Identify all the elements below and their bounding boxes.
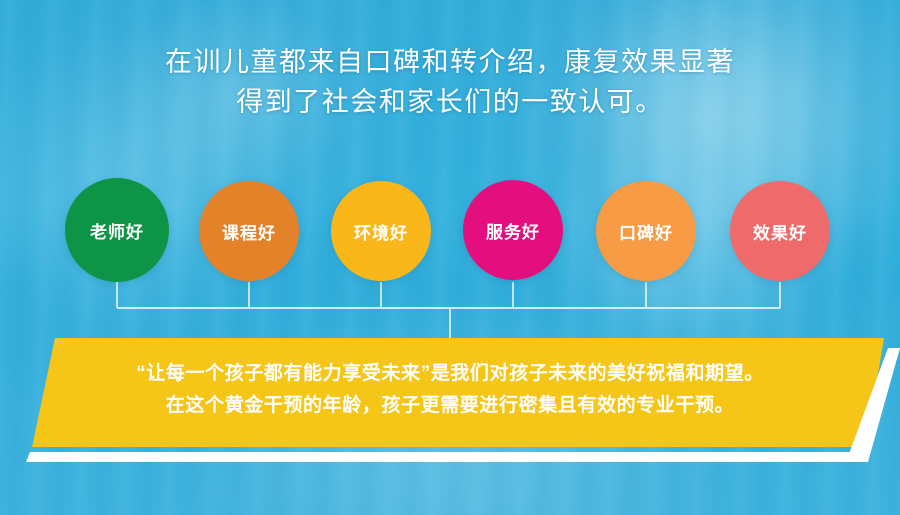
badge-label: 老师好 (90, 218, 144, 243)
badge-circle[interactable]: 环境好 (331, 181, 431, 281)
badge-label: 服务好 (486, 218, 540, 243)
badge-circle[interactable]: 口碑好 (596, 181, 696, 281)
badge-circle[interactable]: 服务好 (463, 180, 563, 280)
badge-circle[interactable]: 课程好 (199, 181, 299, 281)
banner-text: “让每一个孩子都有能力享受未来”是我们对孩子未来的美好祝福和期望。 在这个黄金干… (0, 358, 900, 422)
badge-label: 效果好 (753, 219, 807, 244)
badge-label: 口碑好 (619, 219, 673, 244)
badge-label: 课程好 (222, 219, 276, 244)
highlight-banner: “让每一个孩子都有能力享受未来”是我们对孩子未来的美好祝福和期望。 在这个黄金干… (0, 330, 900, 470)
poster-canvas: 在训儿童都来自口碑和转介绍，康复效果显著 得到了社会和家长们的一致认可。 老师好… (0, 0, 900, 515)
badge-circle[interactable]: 老师好 (65, 178, 169, 282)
banner-line-1: “让每一个孩子都有能力享受未来”是我们对孩子未来的美好祝福和期望。 (0, 358, 900, 390)
badge-circle[interactable]: 效果好 (730, 181, 830, 281)
badge-row: 老师好课程好环境好服务好口碑好效果好 (0, 0, 900, 300)
banner-line-2: 在这个黄金干预的年龄，孩子更需要进行密集且有效的专业干预。 (0, 390, 900, 422)
badge-label: 环境好 (354, 219, 408, 244)
